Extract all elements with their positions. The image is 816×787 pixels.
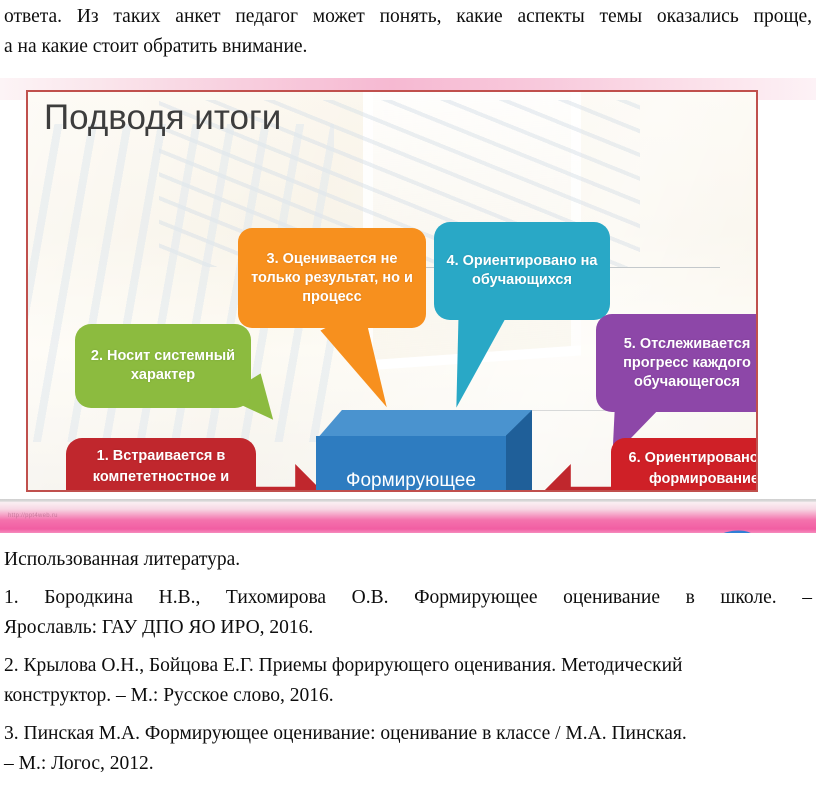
bibliography-entry-1: 1. Бородкина Н.В., Тихомирова О.В. Форми… [4, 583, 812, 643]
top-paragraph-line-2: а на какие стоит обратить внимание. [4, 32, 812, 62]
bibliography-heading-text: Использованная литература. [4, 545, 812, 575]
callout-1-label: 1. Встраивается в компететностное и личн… [74, 446, 248, 493]
callout-6-skills-formation: 6. Ориентировано на формирование личност… [611, 438, 758, 492]
bibliography-entry-1-line-1: 1. Бородкина Н.В., Тихомирова О.В. Форми… [4, 583, 812, 613]
top-paragraph: ответа. Из таких анкет педагог может пон… [4, 2, 812, 62]
callout-6-label: 6. Ориентировано на формирование личност… [619, 448, 758, 493]
callout-5-progress-tracking: 5. Отслеживается прогресс каждого обучаю… [596, 314, 758, 412]
bibliography-entry-3: 3. Пинская М.А. Формирующее оценивание: … [4, 719, 812, 779]
presentation-slide: Подводя итоги 2. Носит системный характе… [26, 90, 758, 492]
slide-title: Подводя итоги [44, 98, 281, 138]
decorative-pink-band-bottom: http://ppt4web.ru [0, 499, 816, 533]
callout-3-process: 3. Оценивается не только результат, но и… [238, 228, 426, 328]
callout-4-learner-oriented: 4. Ориентировано на обучающихся [434, 222, 610, 320]
bibliography-section: Использованная литература. 1. Бородкина … [4, 545, 812, 787]
bibliography-entry-2: 2. Крылова О.Н., Бойцова Е.Г. Приемы фор… [4, 651, 812, 711]
redo-curved-arrow-icon [703, 521, 765, 533]
center-box-label: Формирующее оценивание [316, 436, 506, 492]
bibliography-heading: Использованная литература. [4, 545, 812, 575]
bibliography-entry-3-line-1: 3. Пинская М.А. Формирующее оценивание: … [4, 719, 812, 749]
bibliography-entry-1-line-2: Ярославль: ГАУ ДПО ЯО ИРО, 2016. [4, 613, 812, 643]
callout-3-label: 3. Оценивается не только результат, но и… [246, 250, 418, 307]
bibliography-entry-2-line-2: конструктор. – М.: Русское слово, 2016. [4, 681, 812, 711]
slide-figure: http://ppt4web.ru Подводя итоги 2. Носит… [0, 78, 816, 533]
callout-2-systemic: 2. Носит системный характер [75, 324, 251, 408]
watermark-text: http://ppt4web.ru [8, 513, 58, 519]
callout-2-label: 2. Носит системный характер [83, 347, 243, 385]
callout-1-embedded-learning: 1. Встраивается в компететностное и личн… [66, 438, 256, 492]
bibliography-entry-3-line-2: – М.: Логос, 2012. [4, 749, 812, 779]
callout-4-label: 4. Ориентировано на обучающихся [442, 252, 602, 290]
top-paragraph-line-1: ответа. Из таких анкет педагог может пон… [4, 2, 812, 32]
callout-5-label: 5. Отслеживается прогресс каждого обучаю… [604, 335, 758, 392]
center-concept-box: Формирующее оценивание [316, 410, 532, 492]
center-box-line-1: Формирующее [346, 468, 476, 492]
bibliography-entry-2-line-1: 2. Крылова О.Н., Бойцова Е.Г. Приемы фор… [4, 651, 812, 681]
